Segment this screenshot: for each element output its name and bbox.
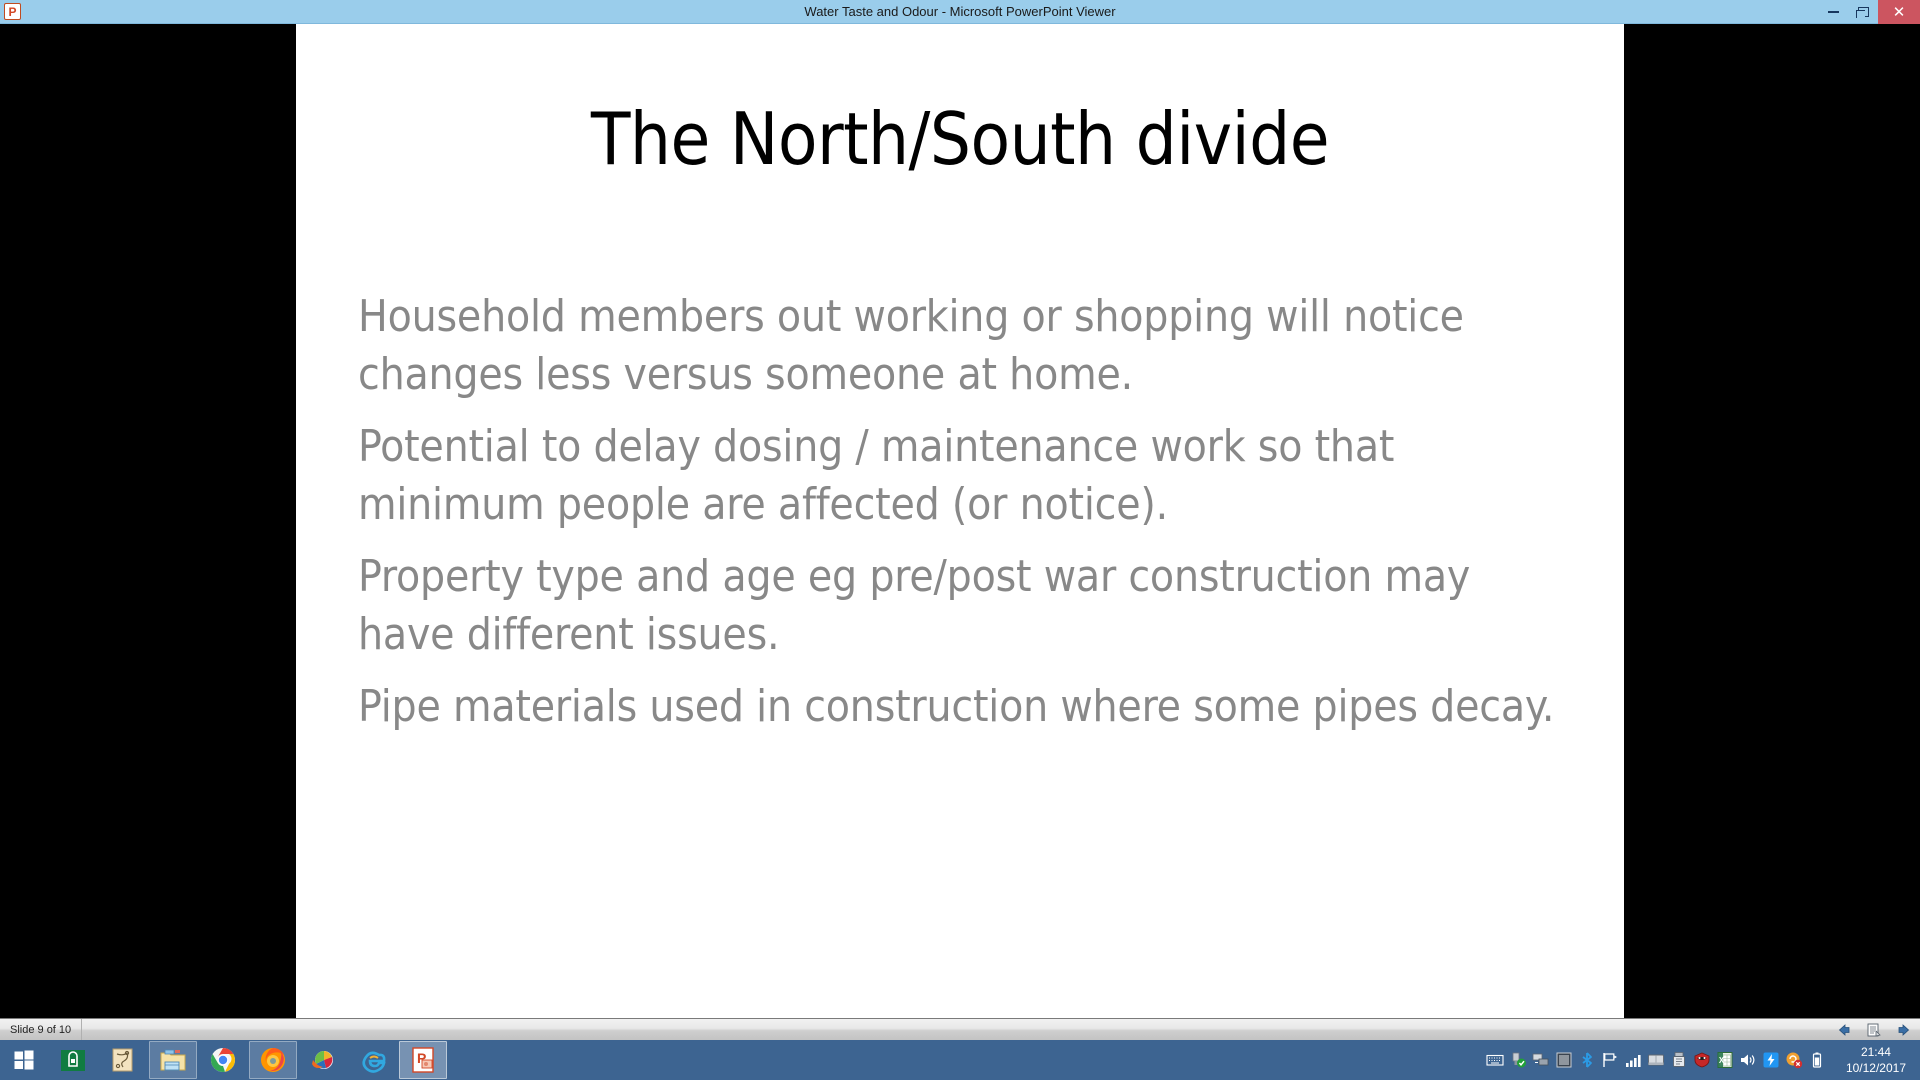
security-shield-icon[interactable] — [1693, 1051, 1711, 1069]
file-explorer-icon — [159, 1046, 187, 1074]
network-connections-icon[interactable] — [1532, 1051, 1550, 1069]
google-chrome-icon — [209, 1046, 237, 1074]
taskbar-item-microsoft-store[interactable] — [49, 1041, 97, 1079]
maximize-button[interactable] — [1848, 0, 1878, 24]
bluetooth-icon[interactable] — [1578, 1051, 1596, 1069]
title-bar[interactable]: P Water Taste and Odour - Microsoft Powe… — [0, 0, 1920, 24]
slide-viewer-area[interactable]: The North/South divide Household members… — [0, 24, 1920, 1018]
photo-app-icon — [309, 1046, 337, 1074]
taskbar-item-file-explorer[interactable] — [149, 1041, 197, 1079]
touchpad-icon[interactable] — [1647, 1051, 1665, 1069]
taskbar-items: P — [48, 1040, 448, 1080]
taskbar-item-internet-explorer[interactable] — [349, 1041, 397, 1079]
update-alert-icon[interactable] — [1785, 1051, 1803, 1069]
touch-keyboard-icon[interactable] — [1486, 1051, 1504, 1069]
slide-counter: Slide 9 of 10 — [0, 1019, 82, 1041]
taskbar: P — [0, 1040, 1920, 1080]
power-charging-icon[interactable] — [1762, 1051, 1780, 1069]
battery-icon[interactable] — [1808, 1051, 1826, 1069]
system-tray: X — [1486, 1040, 1920, 1080]
slide-bullet: Property type and age eg pre/post war co… — [358, 548, 1566, 664]
windows-logo-icon — [14, 1050, 34, 1070]
taskbar-item-photo-app[interactable] — [299, 1041, 347, 1079]
previous-slide-icon[interactable] — [1836, 1022, 1852, 1038]
taskbar-item-mozilla-firefox[interactable] — [249, 1041, 297, 1079]
svg-text:X: X — [1719, 1056, 1725, 1065]
microsoft-store-icon — [59, 1046, 87, 1074]
safely-remove-hardware-icon[interactable] — [1509, 1051, 1527, 1069]
slide-notes-icon[interactable] — [1866, 1022, 1882, 1038]
taskbar-item-powerpoint-viewer[interactable]: P — [399, 1041, 447, 1079]
list-panel-icon[interactable] — [1555, 1051, 1573, 1069]
status-bar-controls — [1836, 1019, 1912, 1041]
minimize-button[interactable] — [1818, 0, 1848, 24]
slide-bullet: Household members out working or shoppin… — [358, 288, 1566, 404]
powerpoint-viewer-window: P Water Taste and Odour - Microsoft Powe… — [0, 0, 1920, 1080]
volume-icon[interactable] — [1739, 1051, 1757, 1069]
window-controls: ✕ — [1818, 0, 1920, 24]
clock-time: 21:44 — [1846, 1044, 1906, 1060]
close-button[interactable]: ✕ — [1878, 0, 1920, 24]
start-button[interactable] — [0, 1040, 48, 1080]
next-slide-icon[interactable] — [1896, 1022, 1912, 1038]
flag-action-center-icon[interactable] — [1601, 1051, 1619, 1069]
sticky-notes-icon — [109, 1046, 137, 1074]
slide-bullet: Pipe materials used in construction wher… — [358, 678, 1566, 736]
signal-bars-icon[interactable] — [1624, 1051, 1642, 1069]
powerpoint-icon[interactable]: P — [4, 3, 21, 20]
window-title: Water Taste and Odour - Microsoft PowerP… — [0, 0, 1920, 24]
mozilla-firefox-icon — [259, 1046, 287, 1074]
excel-icon[interactable]: X — [1716, 1051, 1734, 1069]
taskbar-item-google-chrome[interactable] — [199, 1041, 247, 1079]
status-bar: Slide 9 of 10 — [0, 1018, 1920, 1040]
tray-icons: X — [1486, 1051, 1826, 1069]
clock-date: 10/12/2017 — [1846, 1060, 1906, 1076]
maximize-icon — [1858, 7, 1869, 17]
minimize-icon — [1828, 11, 1839, 13]
slide-canvas[interactable]: The North/South divide Household members… — [296, 24, 1624, 1018]
slide-bullet: Potential to delay dosing / maintenance … — [358, 418, 1566, 534]
usb-device-icon[interactable] — [1670, 1051, 1688, 1069]
slide-body: Household members out working or shoppin… — [358, 288, 1566, 751]
powerpoint-viewer-icon: P — [409, 1046, 437, 1074]
taskbar-clock[interactable]: 21:44 10/12/2017 — [1838, 1044, 1914, 1076]
internet-explorer-icon — [359, 1046, 387, 1074]
taskbar-item-sticky-notes[interactable] — [99, 1041, 147, 1079]
slide-title: The North/South divide — [296, 102, 1624, 178]
